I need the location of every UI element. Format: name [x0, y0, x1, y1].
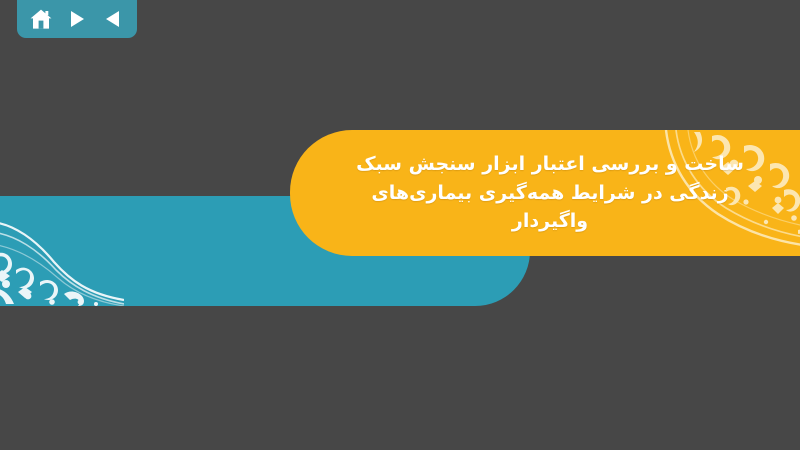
home-button[interactable]: [28, 6, 54, 32]
triangle-right-icon: [68, 9, 86, 29]
slide-title: ساخت و بررسی اعتبار ابزار سنجش سبک زندگی…: [290, 130, 800, 256]
title-line-3: واگیردار: [512, 207, 588, 236]
title-line-2: زندگی در شرایط همه‌گیری بیماری‌های: [371, 179, 728, 208]
presentation-slide: ساخت و بررسی اعتبار ابزار سنجش سبک زندگی…: [0, 0, 800, 450]
orange-title-band: ساخت و بررسی اعتبار ابزار سنجش سبک زندگی…: [290, 130, 800, 256]
next-slide-button[interactable]: [64, 6, 90, 32]
home-icon: [29, 8, 53, 31]
triangle-left-icon: [104, 9, 122, 29]
previous-slide-button[interactable]: [100, 6, 126, 32]
title-line-1: ساخت و بررسی اعتبار ابزار سنجش سبک: [356, 150, 744, 179]
slide-navigation-bar: [17, 0, 137, 38]
arabesque-ornament-teal: [0, 214, 124, 306]
